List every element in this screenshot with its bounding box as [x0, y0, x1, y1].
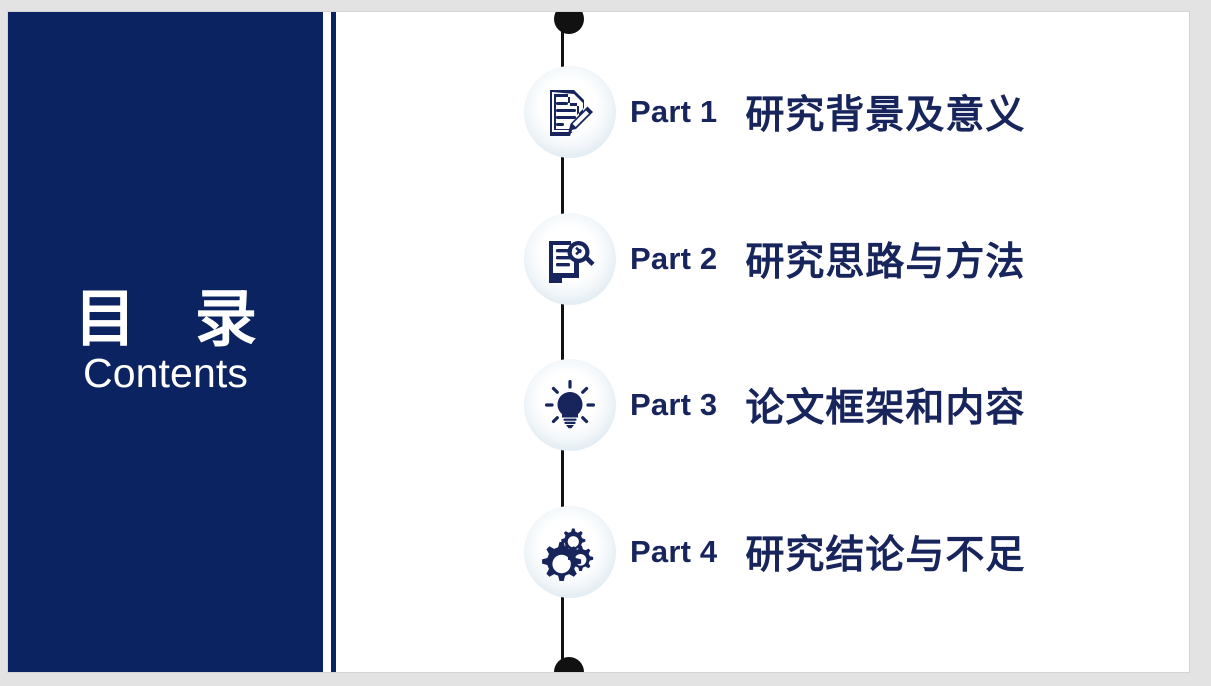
part-title-4: 研究结论与不足 [745, 524, 1025, 580]
timeline-item-label-2: Part 2 研究思路与方法 [630, 213, 1025, 305]
sidebar-content: 目 录 Contents [8, 12, 323, 672]
part-number-1: Part 1 [630, 94, 717, 130]
lightbulb-icon [524, 359, 616, 451]
slide-canvas: 目 录 Contents [8, 12, 1189, 672]
timeline-start-dot [554, 12, 584, 34]
slide-root: 目 录 Contents [0, 0, 1211, 686]
part-number-4: Part 4 [630, 534, 717, 570]
document-magnifier-icon [524, 213, 616, 305]
document-pencil-icon [524, 66, 616, 158]
page-title-cn: 目 录 [56, 288, 276, 350]
gears-icon [524, 506, 616, 598]
part-title-3: 论文框架和内容 [745, 377, 1025, 433]
part-number-3: Part 3 [630, 387, 717, 423]
timeline-item-label-1: Part 1 研究背景及意义 [630, 66, 1025, 158]
timeline-item-label-4: Part 4 研究结论与不足 [630, 506, 1025, 598]
part-number-2: Part 2 [630, 241, 717, 277]
timeline-area: Part 1 研究背景及意义 [336, 12, 1189, 672]
page-title-en: Contents [83, 352, 248, 395]
part-title-1: 研究背景及意义 [745, 84, 1025, 140]
timeline-end-dot [554, 657, 584, 672]
timeline-item-label-3: Part 3 论文框架和内容 [630, 359, 1025, 451]
part-title-2: 研究思路与方法 [745, 231, 1025, 287]
